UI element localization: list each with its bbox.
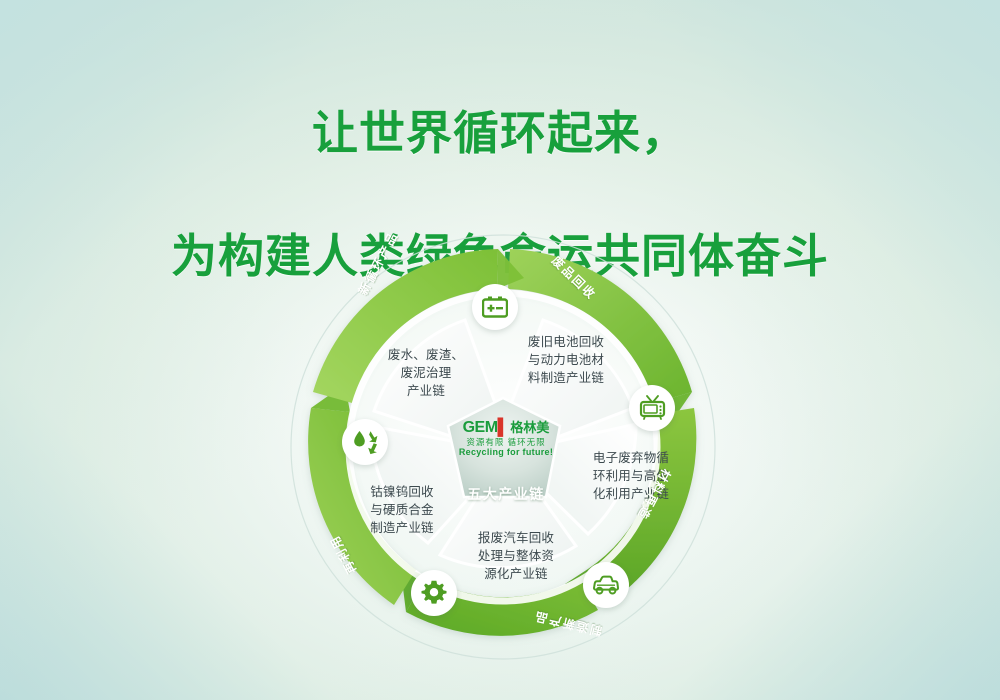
logo-accent-bar: ▌ <box>498 419 509 436</box>
gem-logo: GEM▌格林美 资源有限 循环无限 Recycling for future! <box>456 420 556 458</box>
tv-icon-glyph <box>639 395 666 421</box>
gear-icon-glyph <box>421 580 447 606</box>
recycle-drop-icon-glyph <box>351 429 379 455</box>
logo-wordmark: GEM▌格林美 <box>456 420 556 436</box>
logo-mark-text: GEM <box>463 419 498 436</box>
battery-icon-glyph <box>482 296 508 318</box>
logo-chinese-name: 格林美 <box>510 420 549 435</box>
logo-slogan-chinese: 资源有限 循环无限 <box>456 438 556 447</box>
battery-icon[interactable] <box>472 284 518 330</box>
logo-slogan-english: Recycling for future! <box>456 448 556 458</box>
gear-icon[interactable] <box>411 570 457 616</box>
page-title-line-1: 让世界循环起来， <box>0 103 1000 164</box>
chain-label-water: 废水、废渣、 废泥治理 产业链 <box>372 347 480 400</box>
circular-industry-chain-diagram: GEM▌格林美 资源有限 循环无限 Recycling for future! … <box>288 212 718 682</box>
chain-label-battery: 废旧电池回收 与动力电池材 料制造产业链 <box>511 334 621 387</box>
car-icon-glyph <box>592 575 620 595</box>
chain-label-metal: 钴镍钨回收 与硬质合金 制造产业链 <box>350 484 454 537</box>
car-icon[interactable] <box>583 562 629 608</box>
center-subtitle: 五大产业链 <box>456 484 556 504</box>
chain-label-auto: 报废汽车回收 处理与整体资 源化产业链 <box>464 530 568 583</box>
recycle-drop-icon[interactable] <box>342 419 388 465</box>
tv-icon[interactable] <box>629 385 675 431</box>
